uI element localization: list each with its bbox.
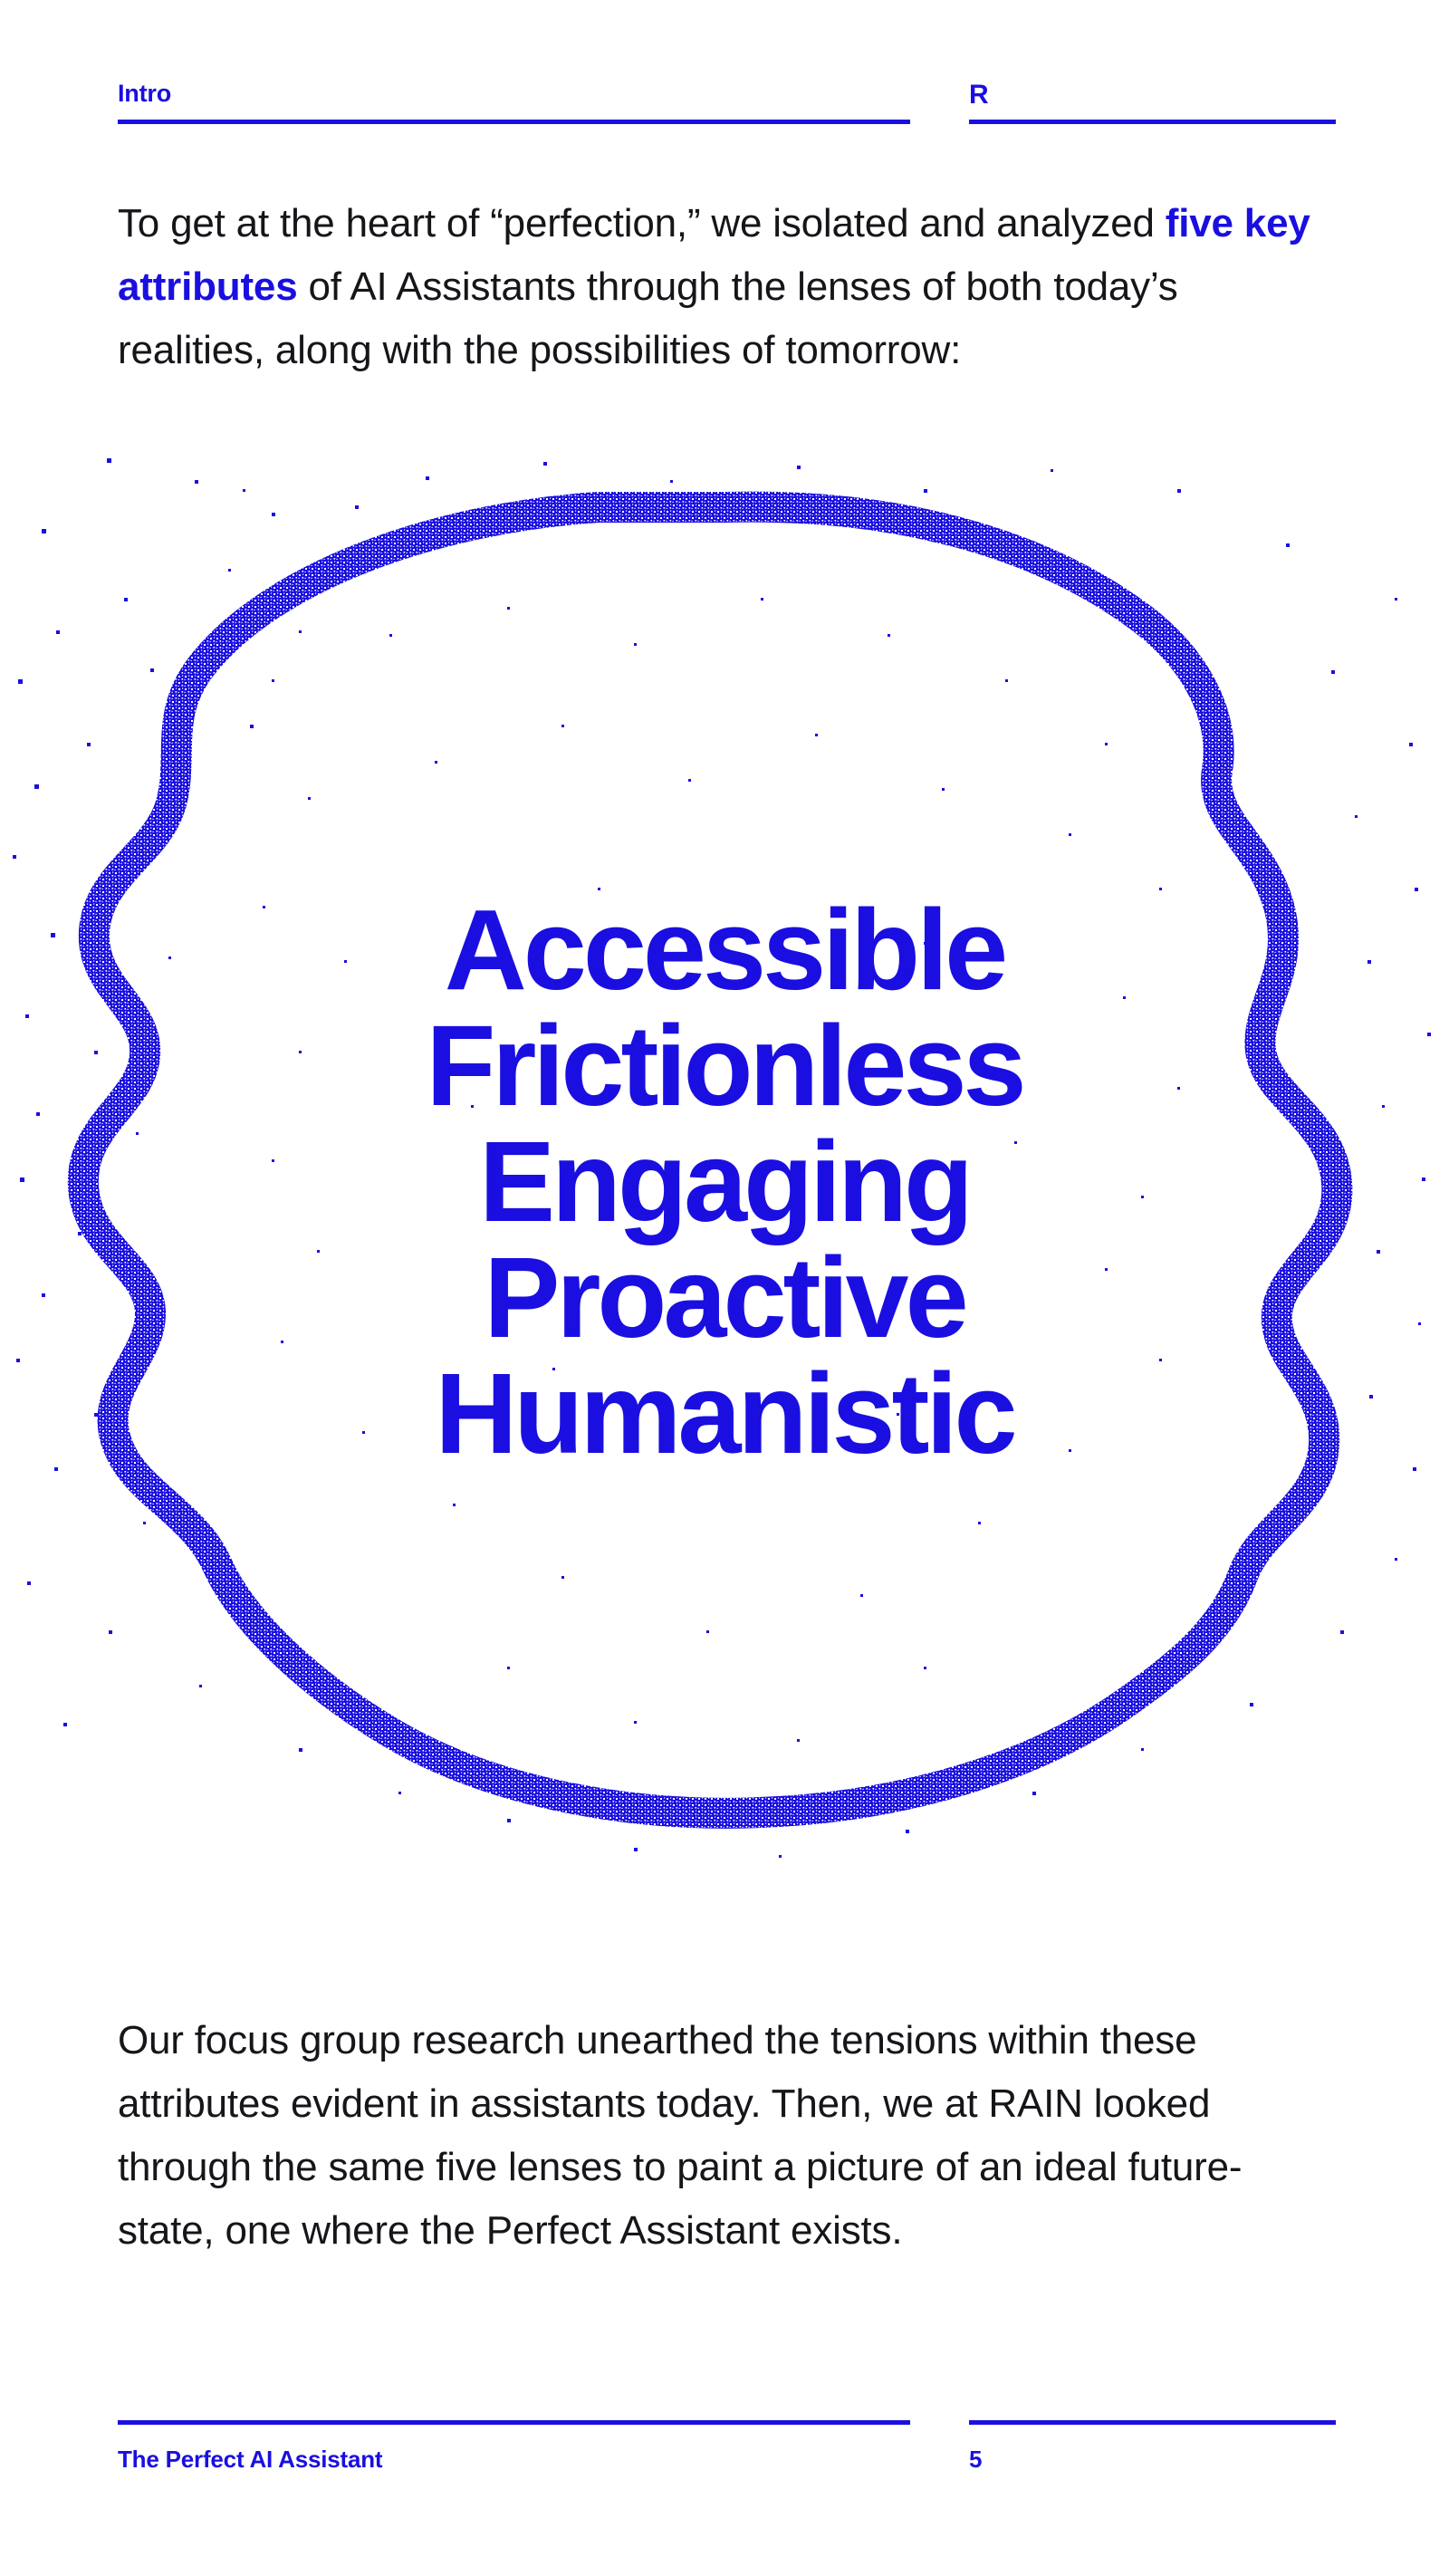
attributes-blob-graphic: Accessible Frictionless Engaging Proacti…	[0, 453, 1449, 1911]
attribute-word: Humanistic	[435, 1356, 1013, 1472]
header-right-column: R	[969, 82, 1336, 109]
header-rule-right	[969, 120, 1336, 124]
attribute-word: Frictionless	[426, 1008, 1022, 1124]
document-title: The Perfect AI Assistant	[118, 2446, 382, 2474]
footer-rule-left	[118, 2420, 910, 2425]
page-number: 5	[969, 2446, 982, 2474]
header-rule-left	[118, 120, 910, 124]
intro-text-before: To get at the heart of “perfection,” we …	[118, 201, 1166, 245]
attribute-word: Proactive	[484, 1240, 964, 1356]
intro-paragraph: To get at the heart of “perfection,” we …	[118, 192, 1322, 382]
header-left-column: Intro	[118, 82, 910, 106]
rain-logo-mark: R	[969, 82, 1336, 109]
section-label: Intro	[118, 82, 910, 106]
document-page: Intro R To get at the heart of “perfecti…	[0, 0, 1449, 2576]
page-header: Intro R	[0, 0, 1449, 154]
attribute-word: Accessible	[445, 892, 1004, 1008]
attribute-word-list: Accessible Frictionless Engaging Proacti…	[0, 453, 1449, 1911]
outro-paragraph: Our focus group research unearthed the t…	[118, 2009, 1322, 2263]
footer-rule-right	[969, 2420, 1336, 2425]
attribute-word: Engaging	[479, 1124, 970, 1240]
page-footer: The Perfect AI Assistant 5	[0, 2420, 1449, 2529]
